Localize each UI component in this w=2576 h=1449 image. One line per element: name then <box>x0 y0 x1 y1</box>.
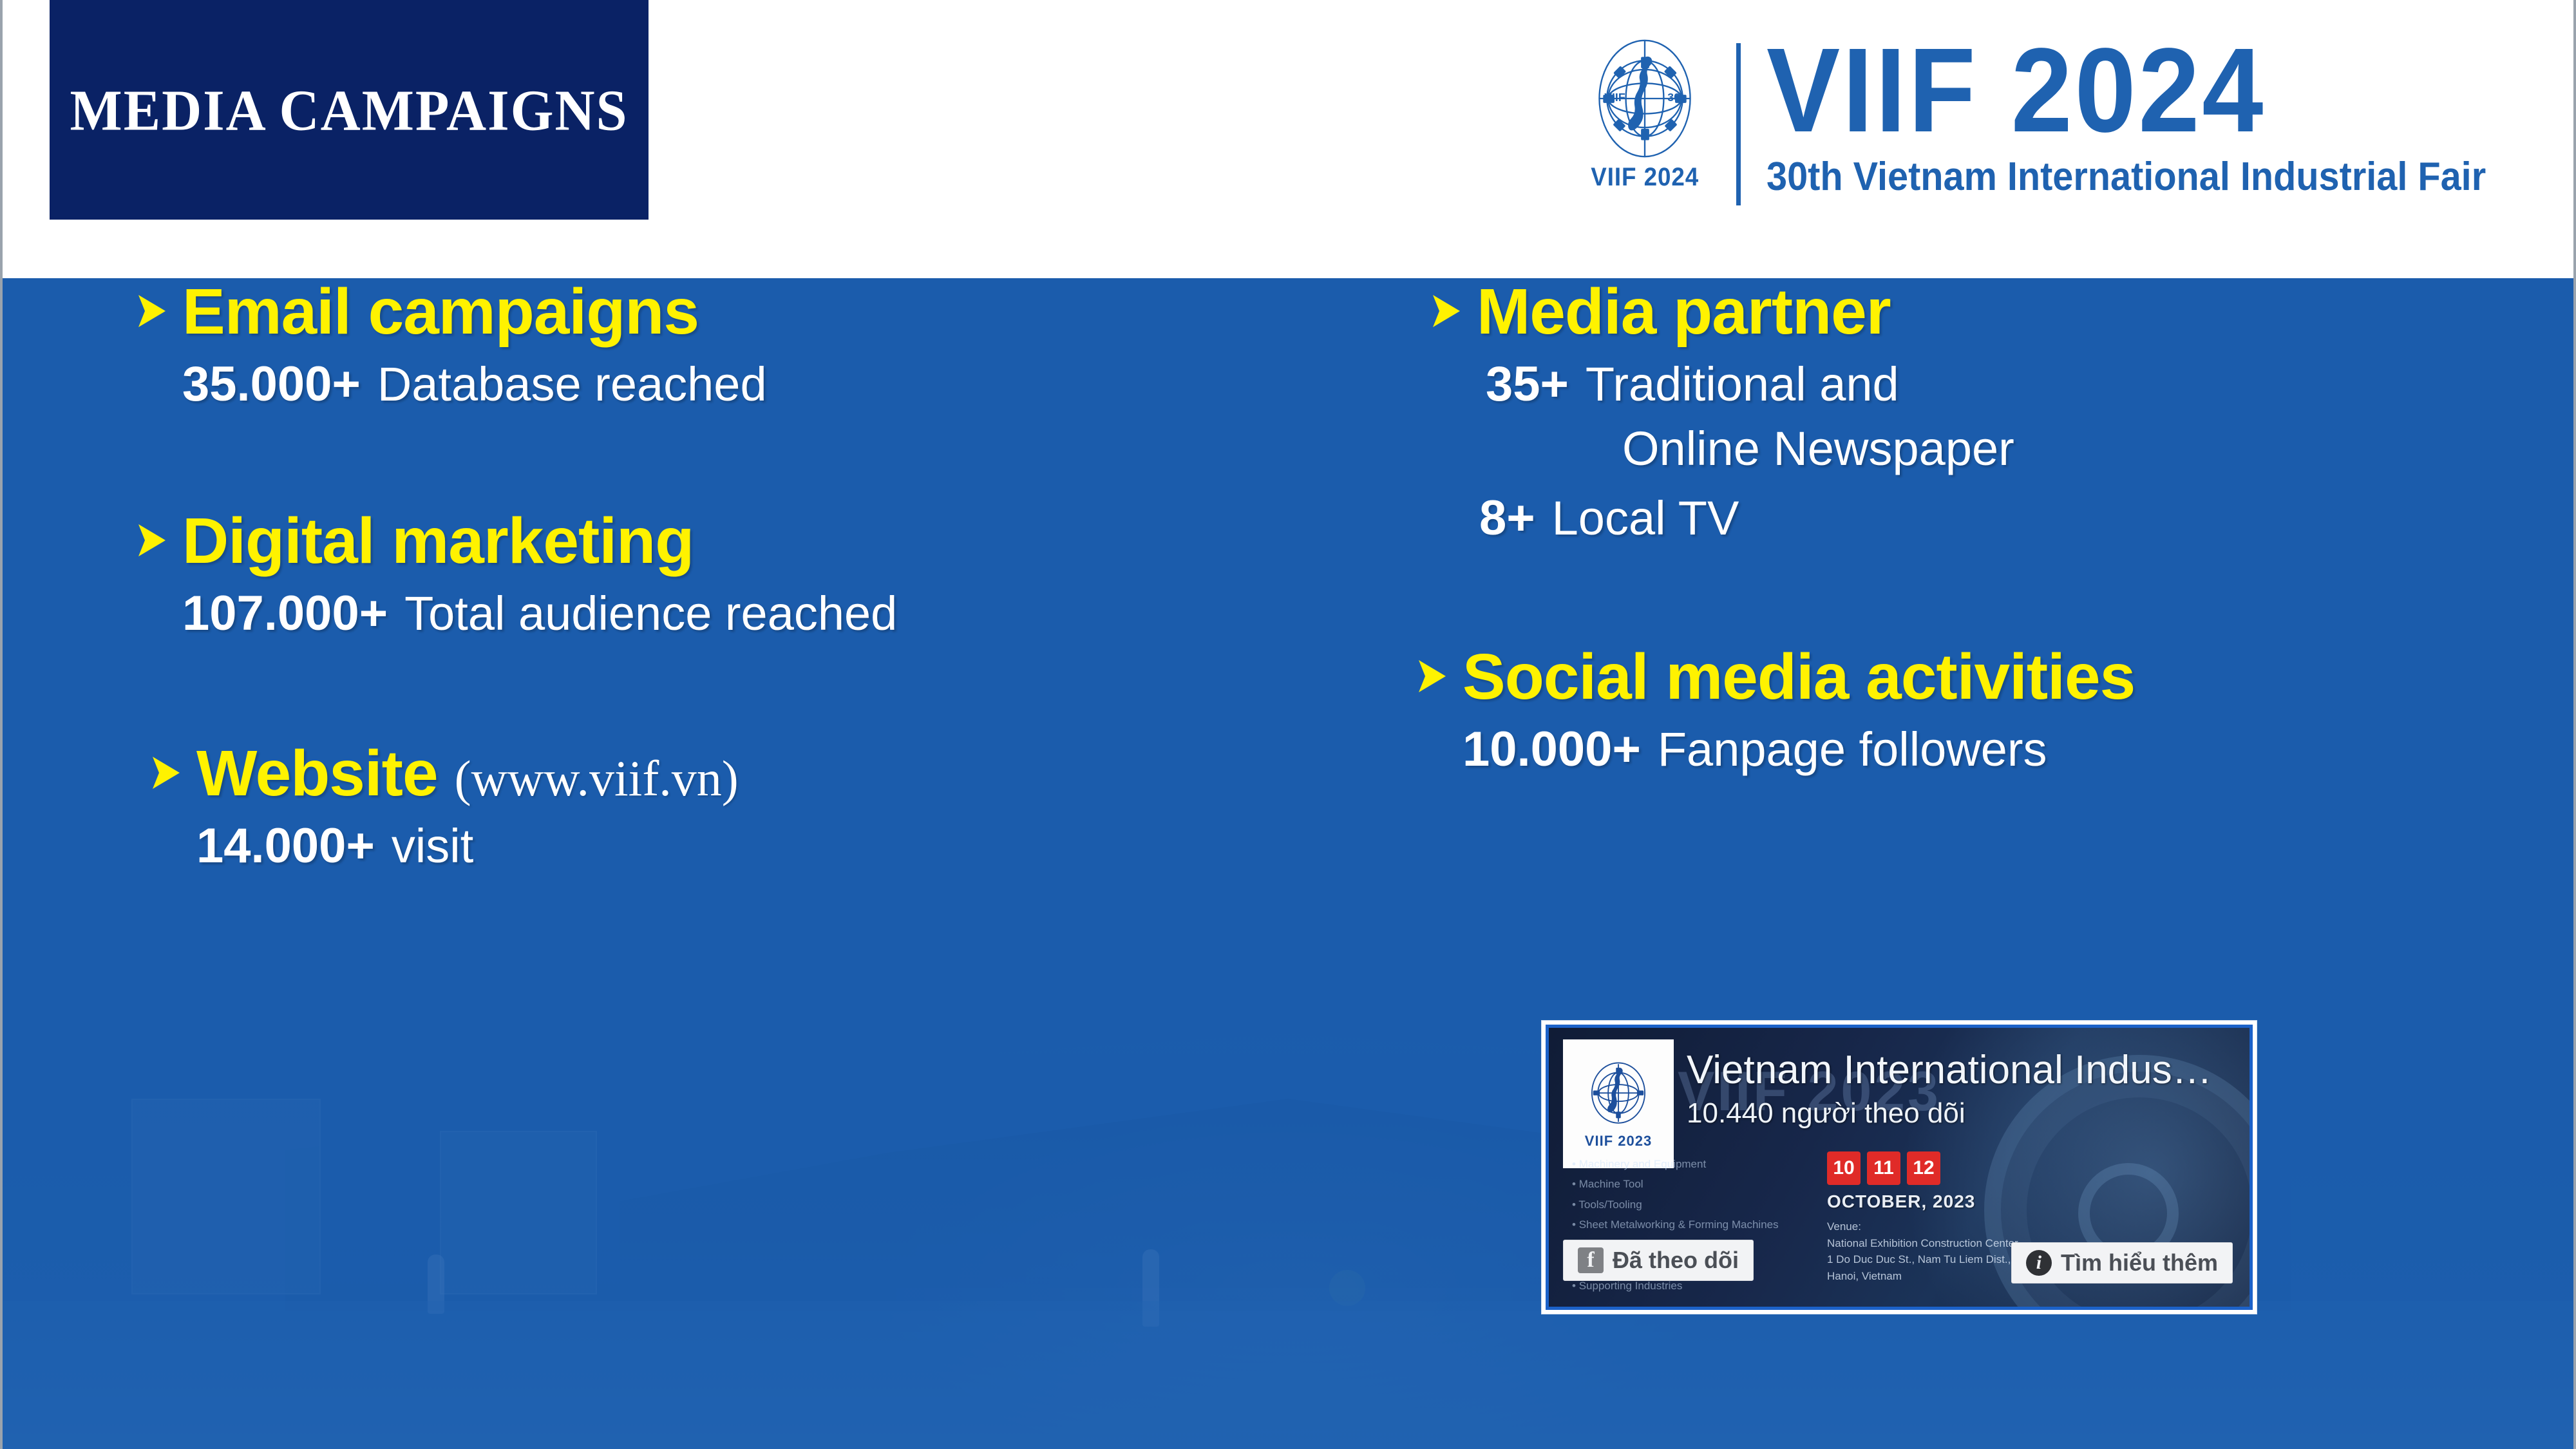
block-heading-row: Social media activities <box>1415 643 2562 711</box>
stat-label: Local TV <box>1552 491 1739 545</box>
list-item: Machinery and Equipment <box>1572 1154 1785 1174</box>
right-column: Media partner 35+ Traditional and Online… <box>1429 278 2562 777</box>
slide-root: MEDIA CAMPAIGNS <box>0 0 2576 1449</box>
facebook-card-banner: VIIF 2023 <box>1546 1025 2253 1310</box>
viif-emblem: VIIF 30 VIIF 2024 <box>1576 35 1714 192</box>
stat-row: 35.000+ Database reached <box>182 356 1326 412</box>
spacer <box>135 642 1326 740</box>
block-title: Media partner <box>1477 278 1891 346</box>
list-item: Machine Tool <box>1572 1174 1785 1194</box>
block-media-partner: Media partner 35+ Traditional and Online… <box>1429 278 2562 547</box>
arrow-right-icon <box>135 292 168 330</box>
block-social-media: Social media activities 10.000+ Fanpage … <box>1429 643 2562 777</box>
date-tiles: 10 11 12 <box>1827 1151 2021 1185</box>
viif-logo-lockup: VIIF 30 VIIF 2024 VIIF 2024 30th Vietnam… <box>1576 35 2540 222</box>
follow-button-label: Đã theo dõi <box>1613 1247 1739 1274</box>
stat-label: Database reached <box>377 357 767 412</box>
block-email-campaigns: Email campaigns 35.000+ Database reached <box>135 278 1326 412</box>
svg-text:VIIF: VIIF <box>1605 91 1626 104</box>
stat-number: 14.000+ <box>196 818 375 874</box>
stat-row: 35+ Traditional and <box>1486 356 2562 412</box>
stat-continuation: Online Newspaper <box>1622 421 2562 476</box>
stat-number: 10.000+ <box>1463 721 1641 777</box>
page-title: MEDIA CAMPAIGNS <box>70 76 629 144</box>
stat-row: 8+ Local TV <box>1479 490 2562 546</box>
follower-count: 10.440 người theo dõi <box>1687 1097 1965 1130</box>
block-heading-row: Email campaigns <box>135 278 1326 346</box>
list-item: Sheet Metalworking & Forming Machines <box>1572 1215 1785 1235</box>
stat-row: 107.000+ Total audience reached <box>182 585 1326 641</box>
stat-label: Total audience reached <box>404 586 897 641</box>
stat-number: 8+ <box>1479 490 1535 546</box>
stat-number: 107.000+ <box>182 585 388 641</box>
left-column: Email campaigns 35.000+ Database reached… <box>135 278 1326 874</box>
facebook-icon: f <box>1578 1247 1604 1273</box>
svg-text:30: 30 <box>1668 91 1681 104</box>
arrow-right-icon <box>1429 292 1463 330</box>
block-heading-row: Digital marketing <box>135 507 1326 575</box>
arrow-right-icon <box>1415 658 1448 695</box>
block-title: Email campaigns <box>182 278 699 346</box>
logo-tagline: 30th Vietnam International Industrial Fa… <box>1766 157 2486 197</box>
date-tile: 12 <box>1907 1151 1940 1185</box>
arrow-right-icon <box>135 522 168 559</box>
arrow-right-icon <box>149 754 182 791</box>
stat-number: 35+ <box>1486 356 1569 412</box>
website-url-note[interactable]: (www.viif.vn) <box>455 750 739 808</box>
stat-label: Fanpage followers <box>1658 722 2047 777</box>
stat-label: visit <box>392 819 473 873</box>
spacer <box>135 412 1326 507</box>
avatar[interactable]: VIIF 2023 <box>1563 1039 1674 1168</box>
logo-wordmark: VIIF 2024 <box>1766 35 2478 146</box>
block-title: Website <box>196 740 438 808</box>
block-website: Website (www.viif.vn) 14.000+ visit <box>135 740 1326 874</box>
event-month: OCTOBER, 2023 <box>1827 1191 2021 1212</box>
avatar-caption: VIIF 2023 <box>1585 1133 1652 1150</box>
block-title: Social media activities <box>1463 643 2135 711</box>
list-item: Tools/Tooling <box>1572 1195 1785 1215</box>
page-name[interactable]: Vietnam International Indus… <box>1687 1047 2212 1093</box>
header-band: MEDIA CAMPAIGNS <box>3 0 2576 278</box>
logo-text-group: VIIF 2024 30th Vietnam International Ind… <box>1766 35 2540 197</box>
block-heading-row: Media partner <box>1429 278 2562 346</box>
follow-button[interactable]: f Đã theo dõi <box>1563 1240 1754 1281</box>
logo-divider <box>1736 43 1741 205</box>
learn-more-button[interactable]: i Tìm hiểu thêm <box>2011 1242 2233 1283</box>
stat-row: 10.000+ Fanpage followers <box>1463 721 2562 777</box>
page-title-box: MEDIA CAMPAIGNS <box>50 0 649 220</box>
block-title: Digital marketing <box>182 507 694 575</box>
date-tile: 10 <box>1827 1151 1861 1185</box>
date-tile: 11 <box>1867 1151 1900 1185</box>
stat-number: 35.000+ <box>182 356 361 412</box>
spacer <box>1429 547 2562 643</box>
viif-emblem-icon <box>1582 1058 1654 1130</box>
globe-gear-emblem-icon: VIIF 30 <box>1582 35 1708 162</box>
block-heading-row: Website (www.viif.vn) <box>149 740 1326 808</box>
event-date-block: 10 11 12 OCTOBER, 2023 Venue: National E… <box>1827 1151 2021 1284</box>
stat-label: Traditional and <box>1586 357 1899 412</box>
block-digital-marketing: Digital marketing 107.000+ Total audienc… <box>135 507 1326 641</box>
info-icon: i <box>2026 1250 2052 1276</box>
facebook-page-card[interactable]: VIIF 2023 <box>1542 1021 2257 1314</box>
event-venue: Venue: National Exhibition Construction … <box>1827 1218 2021 1284</box>
emblem-caption: VIIF 2024 <box>1591 163 1699 192</box>
learn-more-button-label: Tìm hiểu thêm <box>2061 1249 2218 1276</box>
stat-row: 14.000+ visit <box>196 818 1326 874</box>
